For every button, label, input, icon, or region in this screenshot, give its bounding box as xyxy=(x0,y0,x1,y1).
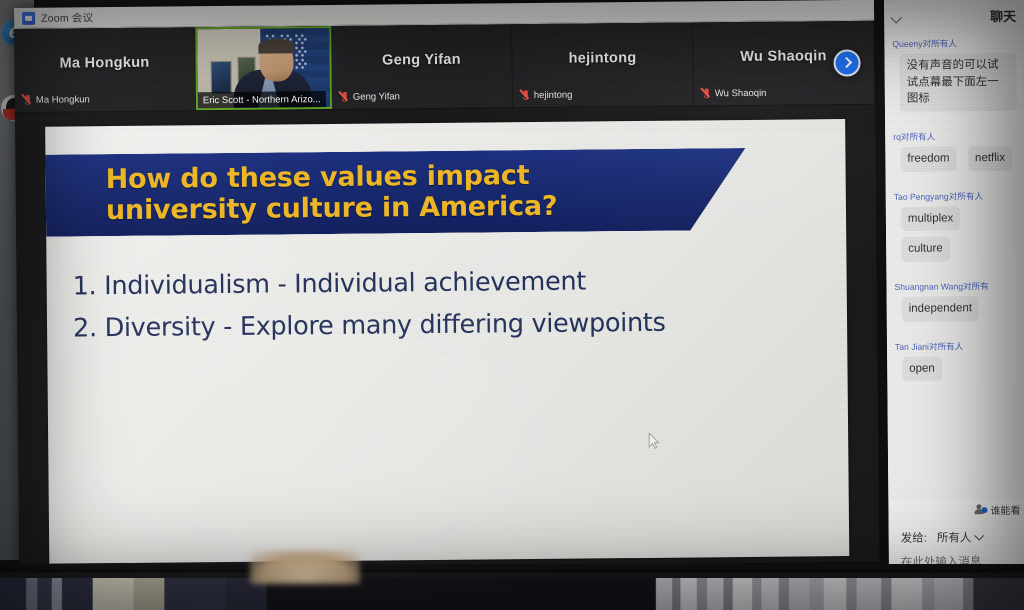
participant-name-label: hejintong xyxy=(534,90,573,101)
participant-tile-active-speaker[interactable]: ) Eric Scott - Northern Arizo... xyxy=(195,26,332,110)
slide-bullet-item: 2. Diversity - Explore many differing vi… xyxy=(73,301,817,350)
participant-footer: Geng Yifan xyxy=(341,91,400,103)
who-can-see-label: 谁能看 xyxy=(990,502,1020,517)
participant-name-label: Ma Hongkun xyxy=(36,94,90,106)
chevron-down-icon[interactable] xyxy=(891,12,902,23)
send-to-row: 发给: 所有人 xyxy=(897,529,1021,546)
chat-message-sender: Tao Pengyang对所有人 xyxy=(894,190,1018,203)
participant-footer: Ma Hongkun xyxy=(24,94,90,106)
chat-message-text: culture xyxy=(901,237,950,262)
chat-message-sender: Shuangnan Wang对所有 xyxy=(894,280,1018,293)
participant-display-name: hejintong xyxy=(568,50,636,67)
participant-tile[interactable]: Ma Hongkun Ma Hongkun xyxy=(14,27,196,112)
send-to-dropdown[interactable]: 所有人 xyxy=(937,529,983,545)
mouse-pointer-icon xyxy=(648,433,659,449)
chat-message-sender: Tan Jiani对所有人 xyxy=(895,340,1019,353)
decorative-glyph: ) xyxy=(200,39,205,56)
chat-message-sender: rq对所有人 xyxy=(893,130,1017,143)
chat-message-group: rq对所有人 freedom netflix xyxy=(893,130,1017,178)
chat-message-list[interactable]: Queeny对所有人 没有声音的可以试试点幕最下面左一图标 rq对所有人 fre… xyxy=(884,33,1024,499)
chat-panel: 聊天 Queeny对所有人 没有声音的可以试试点幕最下面左一图标 rq对所有人 … xyxy=(884,0,1024,578)
below-monitor-area xyxy=(0,564,1024,610)
muted-microphone-icon xyxy=(24,95,32,106)
chat-message-group: Tan Jiani对所有人 open xyxy=(895,340,1019,388)
video-name-label: Eric Scott - Northern Arizo... xyxy=(198,91,326,108)
shared-screen-stage: How do these values impact university cu… xyxy=(15,105,879,570)
zoom-meeting-window: Zoom 会议 Ma Hongkun Ma Hongkun xyxy=(14,0,879,570)
slide-bullet-list: 1. Individualism - Individual achievemen… xyxy=(72,259,817,349)
participant-filmstrip: Ma Hongkun Ma Hongkun xyxy=(14,21,875,113)
who-can-see-row[interactable]: 谁能看 xyxy=(896,502,1020,518)
chevron-down-icon xyxy=(974,531,984,541)
send-to-value: 所有人 xyxy=(937,529,972,545)
chevron-right-icon[interactable] xyxy=(833,49,860,76)
bookshelf xyxy=(0,578,1024,610)
participant-display-name: Ma Hongkun xyxy=(59,54,149,71)
window-title: Zoom 会议 xyxy=(41,10,93,26)
participant-footer: Wu Shaoqin xyxy=(703,88,767,100)
participant-display-name: Wu Shaoqin xyxy=(740,48,827,65)
chat-message-text: 没有声音的可以试试点幕最下面左一图标 xyxy=(899,53,1017,112)
chat-message-sender: Queeny对所有人 xyxy=(892,37,1016,50)
chat-message-text: independent xyxy=(902,296,980,321)
chat-message-text: netflix xyxy=(968,146,1012,171)
slide-title-line-2: university culture in America? xyxy=(106,189,746,226)
chat-message-text: open xyxy=(902,356,942,381)
muted-microphone-icon xyxy=(703,88,711,99)
slide-bullet-item: 1. Individualism - Individual achievemen… xyxy=(72,259,816,308)
participant-footer: hejintong xyxy=(522,90,573,101)
participant-name-label: Wu Shaoqin xyxy=(715,88,767,99)
chat-message-text: multiplex xyxy=(901,206,961,231)
foreground-object xyxy=(250,550,360,584)
chat-panel-header: 聊天 xyxy=(884,0,1024,34)
chat-panel-title: 聊天 xyxy=(990,6,1016,25)
zoom-app-icon xyxy=(22,11,35,24)
chat-message-group: Shuangnan Wang对所有 independent xyxy=(894,280,1018,328)
participant-display-name: Geng Yifan xyxy=(382,51,461,68)
participants-icon xyxy=(974,504,987,516)
chat-message-group: Queeny对所有人 没有声音的可以试试点幕最下面左一图标 xyxy=(892,37,1017,118)
muted-microphone-icon xyxy=(522,90,530,101)
participant-tile[interactable]: hejintong hejintong xyxy=(512,22,694,107)
chat-message-text: freedom xyxy=(900,146,956,171)
slide-title-banner: How do these values impact university cu… xyxy=(45,148,746,237)
presentation-slide: How do these values impact university cu… xyxy=(45,119,849,564)
participant-tile[interactable]: Geng Yifan Geng Yifan xyxy=(331,24,513,109)
send-to-label: 发给: xyxy=(901,530,927,546)
muted-microphone-icon xyxy=(341,92,349,103)
photographed-screen: Zoom 会议 Ma Hongkun Ma Hongkun xyxy=(0,0,1024,610)
chat-message-group: Tao Pengyang对所有人 multiplex culture xyxy=(894,190,1019,268)
participant-name-label: Geng Yifan xyxy=(353,91,400,102)
